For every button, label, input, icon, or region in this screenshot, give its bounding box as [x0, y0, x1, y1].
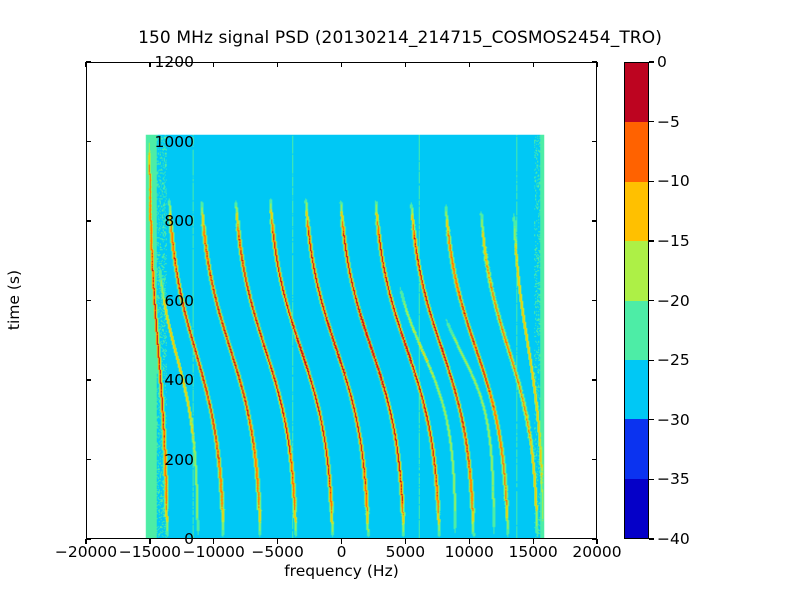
x-tick — [469, 62, 470, 67]
y-tick — [592, 61, 597, 62]
y-tick-label: 1000 — [155, 133, 194, 151]
y-tick — [86, 220, 91, 221]
colorbar-tick — [649, 479, 654, 480]
colorbar-band — [625, 479, 648, 538]
colorbar-tick — [649, 538, 654, 539]
figure-root: 150 MHz signal PSD (20130214_214715_COSM… — [0, 0, 800, 600]
y-axis-title: time (s) — [5, 270, 23, 330]
colorbar-tick-label: −25 — [657, 351, 690, 369]
colorbar-band — [625, 301, 648, 360]
colorbar-tick — [649, 419, 654, 420]
colorbar-band — [625, 241, 648, 300]
x-tick — [533, 62, 534, 67]
page-title: 150 MHz signal PSD (20130214_214715_COSM… — [0, 28, 800, 48]
colorbar-tick-label: 0 — [657, 53, 667, 71]
y-tick-label: 800 — [164, 212, 194, 230]
y-tick — [86, 61, 91, 62]
y-tick — [86, 538, 91, 539]
colorbar-tick-label: −20 — [657, 292, 690, 310]
y-tick — [86, 300, 91, 301]
colorbar-tick-label: −30 — [657, 411, 690, 429]
y-tick — [592, 538, 597, 539]
y-tick-label: 200 — [164, 451, 194, 469]
x-tick-label: 20000 — [572, 543, 621, 561]
y-tick-label: 0 — [184, 530, 194, 548]
colorbar — [624, 62, 649, 539]
colorbar-tick — [649, 300, 654, 301]
colorbar-tick — [649, 61, 654, 62]
x-tick — [85, 62, 86, 67]
x-tick — [341, 62, 342, 67]
y-tick — [86, 459, 91, 460]
y-tick — [592, 300, 597, 301]
y-tick-label: 600 — [164, 292, 194, 310]
y-tick-label: 400 — [164, 371, 194, 389]
x-tick-label: 10000 — [445, 543, 494, 561]
x-tick-label: 15000 — [508, 543, 557, 561]
colorbar-band — [625, 182, 648, 241]
colorbar-tick-label: −40 — [657, 530, 690, 548]
y-tick — [592, 459, 597, 460]
y-tick — [592, 379, 597, 380]
x-tick — [405, 62, 406, 67]
y-tick-label: 1200 — [155, 53, 194, 71]
x-tick-label: −15000 — [119, 543, 181, 561]
colorbar-tick — [649, 360, 654, 361]
x-tick — [596, 62, 597, 67]
y-tick — [86, 141, 91, 142]
colorbar-tick — [649, 181, 654, 182]
colorbar-band — [625, 122, 648, 181]
x-tick-label: −5000 — [251, 543, 303, 561]
colorbar-tick-label: −5 — [657, 113, 680, 131]
x-tick — [213, 62, 214, 67]
colorbar-band — [625, 63, 648, 122]
colorbar-tick-label: −10 — [657, 172, 690, 190]
colorbar-tick-label: −35 — [657, 470, 690, 488]
x-axis-title: frequency (Hz) — [86, 562, 597, 580]
colorbar-tick — [649, 240, 654, 241]
y-tick — [592, 141, 597, 142]
y-tick — [592, 220, 597, 221]
x-tick — [277, 62, 278, 67]
x-tick-label: 0 — [337, 543, 347, 561]
x-tick — [149, 62, 150, 67]
colorbar-tick — [649, 121, 654, 122]
colorbar-tick-label: −15 — [657, 232, 690, 250]
colorbar-band — [625, 360, 648, 419]
x-tick-label: −20000 — [55, 543, 117, 561]
y-tick — [86, 379, 91, 380]
colorbar-band — [625, 419, 648, 478]
x-tick-label: 5000 — [386, 543, 425, 561]
